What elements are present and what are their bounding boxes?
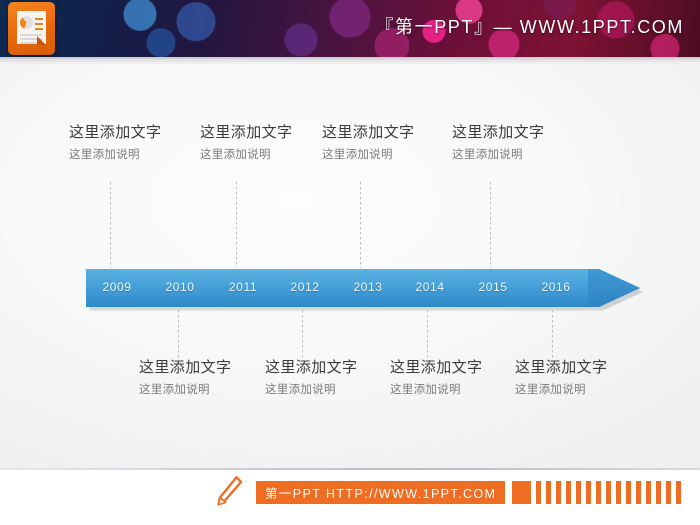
footer-tick-marks [512, 481, 681, 504]
tick-mark [596, 481, 601, 504]
connector-dots-bottom-1 [178, 310, 179, 358]
top-entry-4[interactable]: 这里添加文字 这里添加说明 [452, 123, 544, 164]
entry-title: 这里添加文字 [69, 123, 161, 143]
logo-fold-corner [37, 36, 46, 45]
entry-subtitle: 这里添加说明 [200, 146, 292, 164]
tick-mark [636, 481, 641, 504]
entry-title: 这里添加文字 [200, 123, 292, 143]
footer-url-band: 第一PPT HTTP://WWW.1PPT.COM [256, 481, 505, 504]
pencil-icon [214, 474, 244, 510]
tick-mark [616, 481, 621, 504]
entry-title: 这里添加文字 [390, 358, 482, 378]
year-label-2015[interactable]: 2015 [462, 280, 524, 294]
bottom-entry-1[interactable]: 这里添加文字 这里添加说明 [139, 358, 231, 399]
header-title: 『第一PPT』— WWW.1PPT.COM [375, 13, 684, 39]
header-banner: 『第一PPT』— WWW.1PPT.COM [0, 0, 700, 57]
top-entry-3[interactable]: 这里添加文字 这里添加说明 [322, 123, 414, 164]
connector-dots-bottom-3 [427, 310, 428, 358]
tick-mark [546, 481, 551, 504]
tick-mark [566, 481, 571, 504]
bottom-entry-4[interactable]: 这里添加文字 这里添加说明 [515, 358, 607, 399]
entry-subtitle: 这里添加说明 [515, 381, 607, 399]
footer-url-text: 第一PPT HTTP://WWW.1PPT.COM [265, 483, 496, 502]
connector-dots-top-4 [490, 182, 491, 268]
logo-pie-chart-icon [20, 16, 33, 29]
entry-subtitle: 这里添加说明 [390, 381, 482, 399]
tick-mark [666, 481, 671, 504]
year-label-2016[interactable]: 2016 [525, 280, 587, 294]
tick-mark [536, 481, 541, 504]
powerpoint-document-icon [8, 2, 55, 55]
connector-dots-top-2 [236, 182, 237, 268]
year-labels: 2009 2010 2011 2012 2013 2014 2015 2016 [86, 269, 640, 307]
header-divider-shadow [0, 57, 700, 64]
entry-subtitle: 这里添加说明 [322, 146, 414, 164]
entry-title: 这里添加文字 [452, 123, 544, 143]
tick-mark [576, 481, 581, 504]
connector-dots-bottom-2 [302, 310, 303, 358]
entry-title: 这里添加文字 [139, 358, 231, 378]
bottom-entry-3[interactable]: 这里添加文字 这里添加说明 [390, 358, 482, 399]
connector-dots-bottom-4 [552, 310, 553, 358]
tick-mark [646, 481, 651, 504]
bottom-entry-2[interactable]: 这里添加文字 这里添加说明 [265, 358, 357, 399]
top-entry-2[interactable]: 这里添加文字 这里添加说明 [200, 123, 292, 164]
footer-divider [0, 468, 700, 470]
tick-mark [606, 481, 611, 504]
entry-subtitle: 这里添加说明 [265, 381, 357, 399]
entry-title: 这里添加文字 [515, 358, 607, 378]
entry-title: 这里添加文字 [322, 123, 414, 143]
year-label-2012[interactable]: 2012 [274, 280, 336, 294]
tick-mark [556, 481, 561, 504]
entry-subtitle: 这里添加说明 [452, 146, 544, 164]
year-label-2010[interactable]: 2010 [149, 280, 211, 294]
tick-mark [586, 481, 591, 504]
slide-body: 这里添加文字 这里添加说明 这里添加文字 这里添加说明 这里添加文字 这里添加说… [0, 64, 700, 468]
slide-canvas: 『第一PPT』— WWW.1PPT.COM 这里添加文字 这里添加说明 这里添加… [0, 0, 700, 525]
tick-mark [626, 481, 631, 504]
entry-title: 这里添加文字 [265, 358, 357, 378]
entry-subtitle: 这里添加说明 [69, 146, 161, 164]
year-label-2013[interactable]: 2013 [337, 280, 399, 294]
timeline-arrow[interactable]: 2009 2010 2011 2012 2013 2014 2015 2016 [86, 269, 640, 307]
connector-dots-top-3 [360, 182, 361, 268]
year-label-2014[interactable]: 2014 [399, 280, 461, 294]
entry-subtitle: 这里添加说明 [139, 381, 231, 399]
tick-mark [656, 481, 661, 504]
year-label-2011[interactable]: 2011 [212, 280, 274, 294]
year-label-2009[interactable]: 2009 [86, 280, 148, 294]
top-entry-1[interactable]: 这里添加文字 这里添加说明 [69, 123, 161, 164]
tick-mark [512, 481, 531, 504]
tick-mark [676, 481, 681, 504]
connector-dots-top-1 [110, 182, 111, 268]
